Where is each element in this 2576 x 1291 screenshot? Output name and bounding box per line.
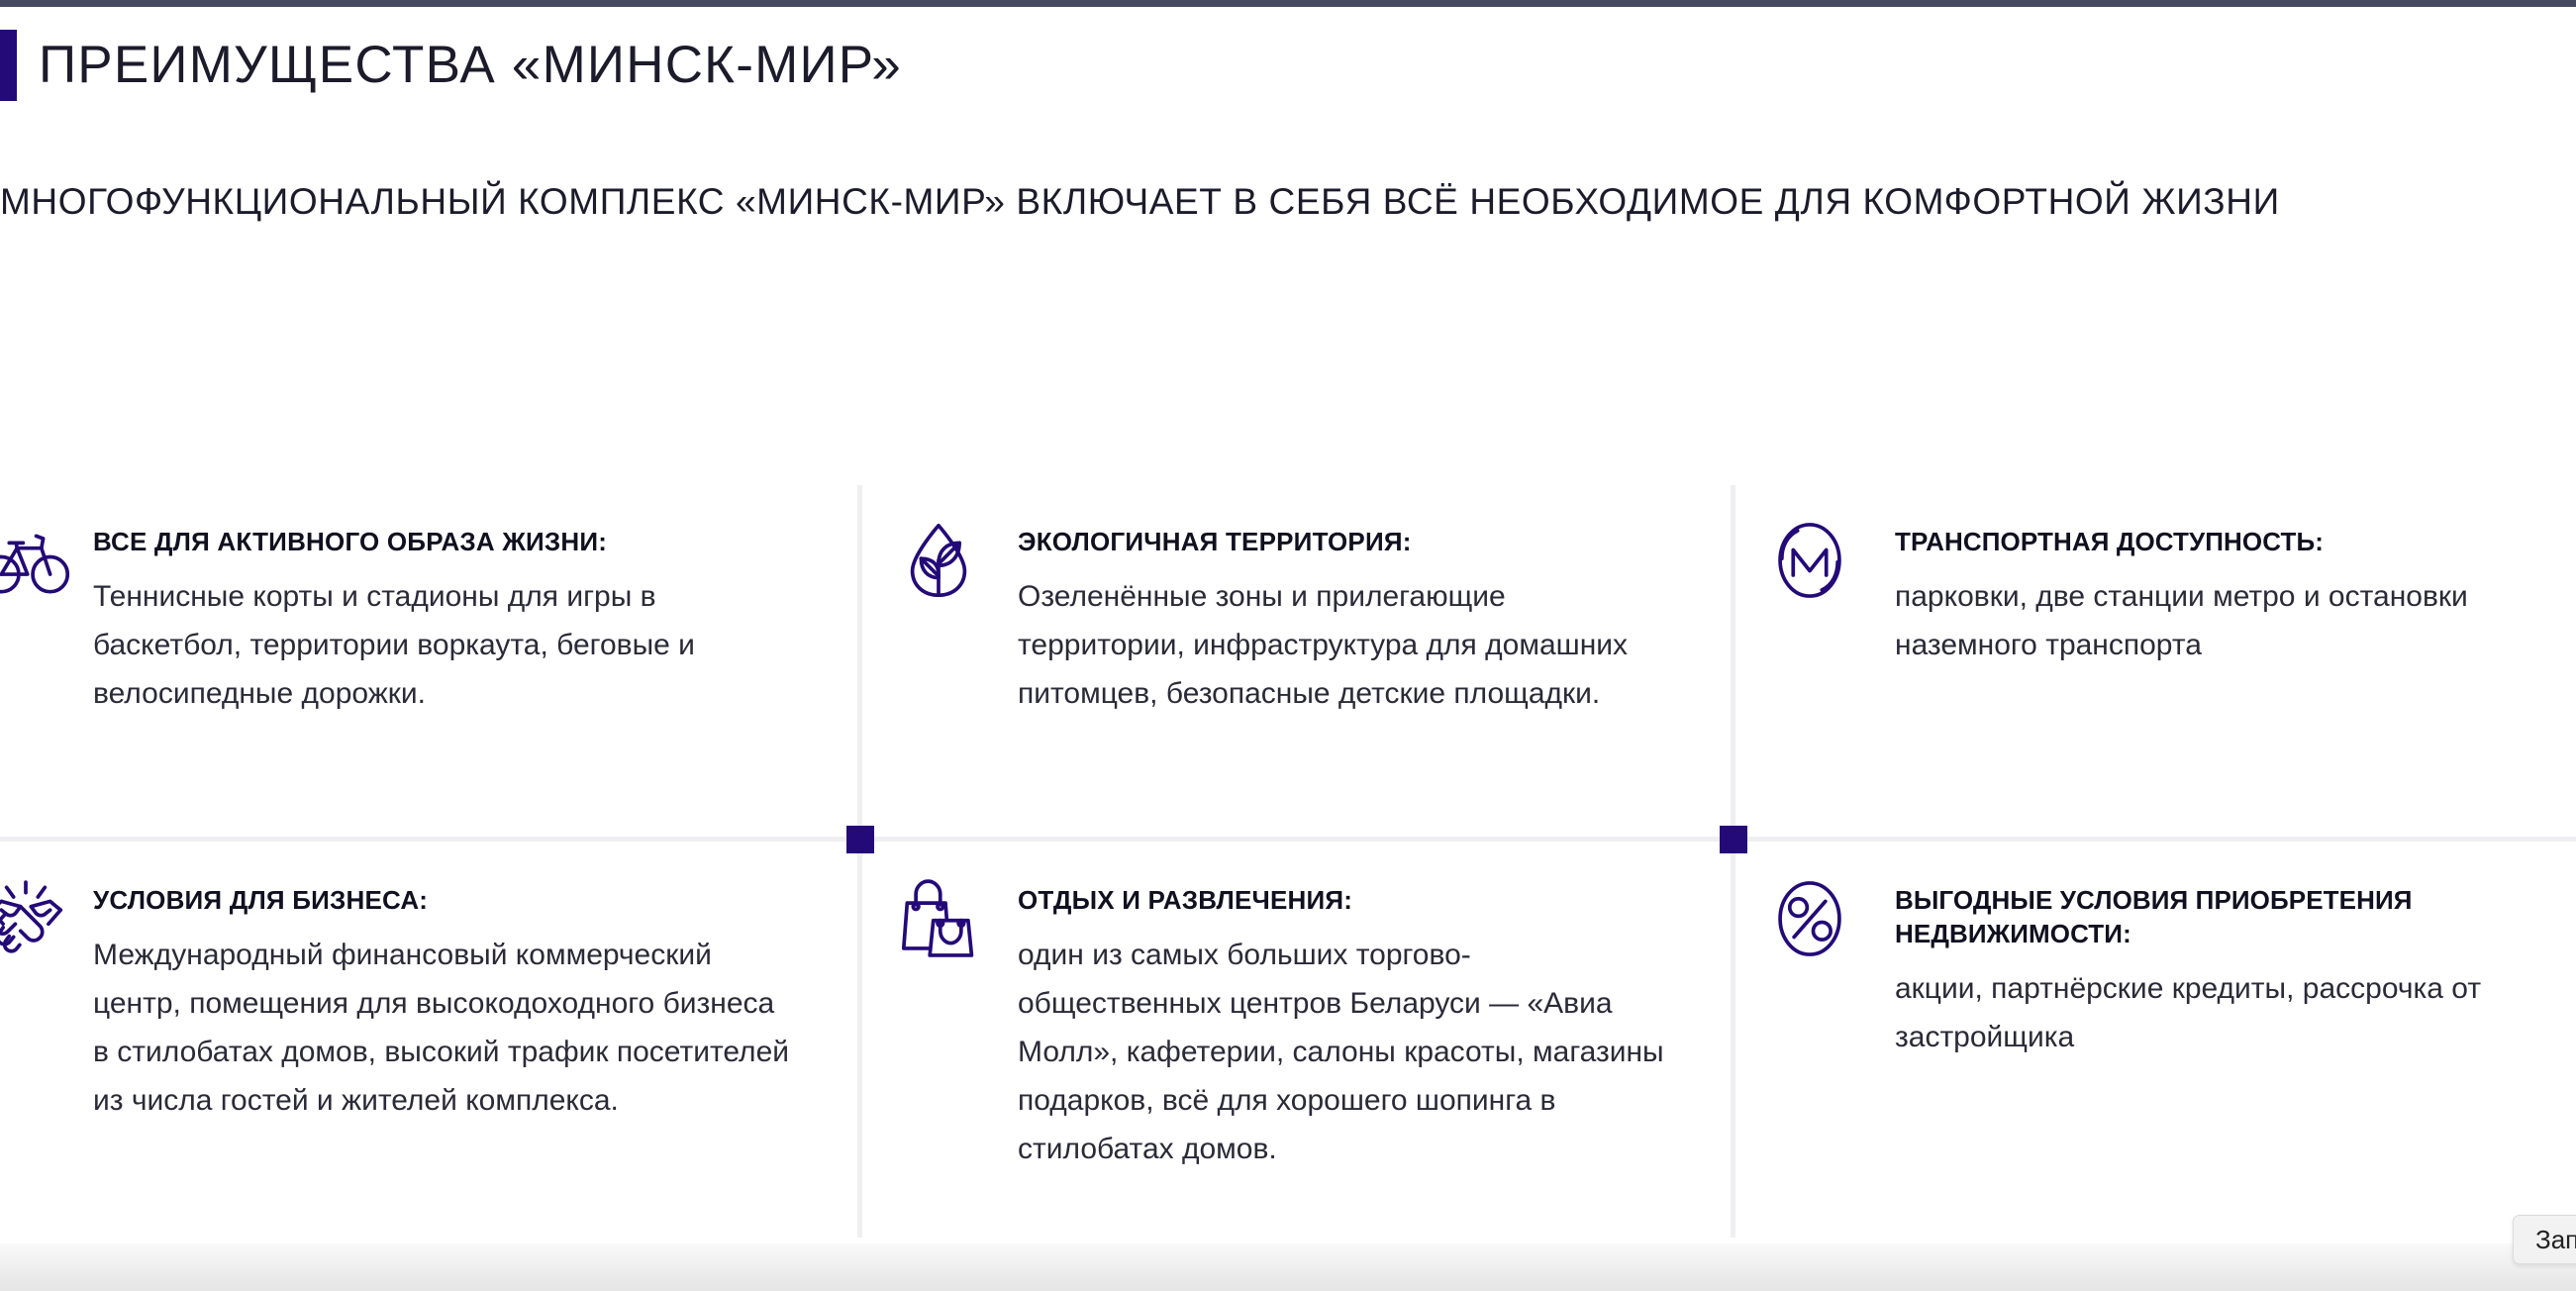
advantage-card-text: Озеленённые зоны и прилегающие территори… (1018, 572, 1673, 718)
advantage-card-text: Международный финансовый коммерческий це… (93, 931, 790, 1125)
advantage-card-business[interactable]: УСЛОВИЯ ДЛЯ БИЗНЕСА: Международный финан… (0, 871, 790, 1125)
page-title: ПРЕИМУЩЕСТВА «МИНСК-МИР» (39, 30, 902, 101)
shopping-bags-icon (891, 871, 986, 966)
page-root: ПРЕИМУЩЕСТВА «МИНСК-МИР» МНОГОФУНКЦИОНАЛ… (0, 0, 2576, 1291)
percent-icon (1762, 871, 1857, 966)
footer-band (0, 1243, 2576, 1291)
advantage-card-text: парковки, две станции метро и остановки … (1895, 572, 2554, 669)
advantage-card-body: УСЛОВИЯ ДЛЯ БИЗНЕСА: Международный финан… (93, 871, 790, 1125)
browser-top-strip (0, 0, 2576, 7)
advantage-card-eco-territory[interactable]: ЭКОЛОГИЧНАЯ ТЕРРИТОРИЯ: Озеленённые зоны… (891, 513, 1673, 718)
horizontal-divider (0, 837, 2576, 842)
advantage-card-title: ВСЕ ДЛЯ АКТИВНОГО ОБРАЗА ЖИЗНИ: (93, 525, 790, 558)
floating-callback-label: Зап (2535, 1225, 2576, 1255)
advantage-card-text: один из самых больших торгово-общественн… (1018, 931, 1673, 1173)
grid-node-marker-2 (1720, 826, 1747, 853)
vertical-divider-2 (1731, 485, 1735, 1238)
advantage-card-leisure[interactable]: ОТДЫХ И РАЗВЛЕЧЕНИЯ: один из самых больш… (891, 871, 1673, 1173)
advantage-card-title: ОТДЫХ И РАЗВЛЕЧЕНИЯ: (1018, 883, 1673, 917)
advantage-card-body: ТРАНСПОРТНАЯ ДОСТУПНОСТЬ: парковки, две … (1895, 513, 2554, 669)
advantages-grid: ВСЕ ДЛЯ АКТИВНОГО ОБРАЗА ЖИЗНИ: Теннисны… (0, 485, 2576, 1238)
page-heading: ПРЕИМУЩЕСТВА «МИНСК-МИР» (0, 30, 2576, 101)
advantage-card-body: ОТДЫХ И РАЗВЛЕЧЕНИЯ: один из самых больш… (1018, 871, 1673, 1173)
advantage-card-purchase-terms[interactable]: ВЫГОДНЫЕ УСЛОВИЯ ПРИОБРЕТЕНИЯ НЕДВИЖИМОС… (1762, 871, 2554, 1061)
grid-node-marker-1 (846, 826, 874, 853)
advantage-card-body: ВСЕ ДЛЯ АКТИВНОГО ОБРАЗА ЖИЗНИ: Теннисны… (93, 513, 790, 718)
advantage-card-transport[interactable]: ТРАНСПОРТНАЯ ДОСТУПНОСТЬ: парковки, две … (1762, 513, 2554, 669)
metro-icon (1762, 513, 1857, 608)
bicycle-icon (0, 513, 73, 608)
advantage-card-body: ЭКОЛОГИЧНАЯ ТЕРРИТОРИЯ: Озеленённые зоны… (1018, 513, 1673, 718)
advantage-card-active-lifestyle[interactable]: ВСЕ ДЛЯ АКТИВНОГО ОБРАЗА ЖИЗНИ: Теннисны… (0, 513, 790, 718)
advantage-card-text: акции, партнёрские кредиты, рассрочка от… (1895, 964, 2554, 1061)
heading-accent-bar (0, 30, 17, 101)
advantage-card-title: ТРАНСПОРТНАЯ ДОСТУПНОСТЬ: (1895, 525, 2554, 558)
advantage-card-title: УСЛОВИЯ ДЛЯ БИЗНЕСА: (93, 883, 790, 917)
advantage-card-text: Теннисные корты и стадионы для игры в ба… (93, 572, 790, 718)
advantage-card-title: ЭКОЛОГИЧНАЯ ТЕРРИТОРИЯ: (1018, 525, 1673, 558)
floating-callback-button[interactable]: Зап (2513, 1215, 2576, 1264)
vertical-divider-1 (857, 485, 862, 1238)
handshake-icon (0, 871, 73, 966)
advantage-card-title: ВЫГОДНЫЕ УСЛОВИЯ ПРИОБРЕТЕНИЯ НЕДВИЖИМОС… (1895, 883, 2554, 950)
eco-leaf-droplet-icon (891, 513, 986, 608)
page-subtitle: МНОГОФУНКЦИОНАЛЬНЫЙ КОМПЛЕКС «МИНСК-МИР»… (0, 170, 2554, 233)
advantage-card-body: ВЫГОДНЫЕ УСЛОВИЯ ПРИОБРЕТЕНИЯ НЕДВИЖИМОС… (1895, 871, 2554, 1061)
